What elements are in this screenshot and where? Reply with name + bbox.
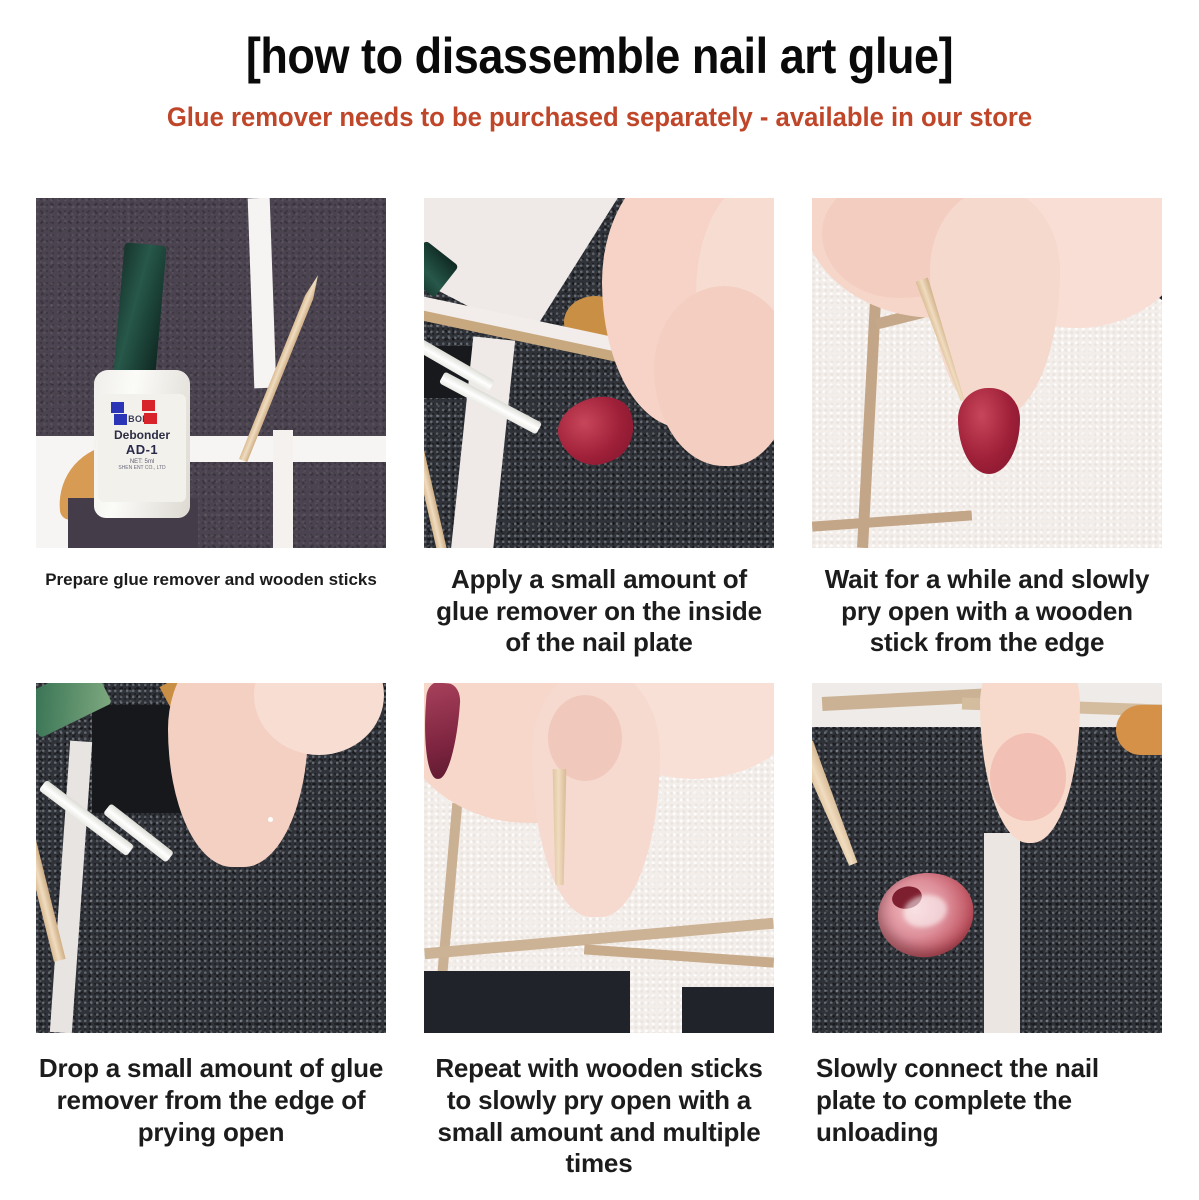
steps-grid: BOND Debonder AD-1 NET: 5ml SHEN ENT CO.… — [36, 198, 1163, 1180]
step-card-2: Apply a small amount of glue remover on … — [424, 198, 774, 659]
bottle-label: BOND Debonder AD-1 NET: 5ml SHEN ENT CO.… — [98, 394, 186, 502]
white-stripe-vertical-2 — [273, 430, 293, 548]
step-image-4 — [36, 683, 386, 1033]
natural-nail — [548, 695, 622, 781]
step-image-2 — [424, 198, 774, 548]
page-header: [how to disassemble nail art glue] Glue … — [0, 0, 1199, 134]
step-card-5: Repeat with wooden sticks to slowly pry … — [424, 683, 774, 1180]
step-caption-1: Prepare glue remover and wooden sticks — [36, 548, 386, 591]
page-subtitle: Glue remover needs to be purchased separ… — [30, 100, 1169, 134]
bottle-company: SHEN ENT CO., LTD — [98, 465, 186, 471]
step-caption-4: Drop a small amount of glue remover from… — [36, 1033, 386, 1148]
steps-row-2: Drop a small amount of glue remover from… — [36, 683, 1163, 1180]
step-card-3: Wait for a while and slowly pry open wit… — [812, 198, 1162, 659]
bottle-product-name: Debonder — [98, 428, 186, 442]
step-card-6: Slowly connect the nail plate to complet… — [812, 683, 1162, 1180]
steps-row-1: BOND Debonder AD-1 NET: 5ml SHEN ENT CO.… — [36, 198, 1163, 659]
step-image-1: BOND Debonder AD-1 NET: 5ml SHEN ENT CO.… — [36, 198, 386, 548]
step-image-5 — [424, 683, 774, 1033]
step-caption-3: Wait for a while and slowly pry open wit… — [812, 548, 1162, 659]
step-caption-6: Slowly connect the nail plate to complet… — [812, 1033, 1162, 1148]
bottle-model: AD-1 — [98, 442, 186, 457]
step-card-1: BOND Debonder AD-1 NET: 5ml SHEN ENT CO.… — [36, 198, 386, 659]
step-caption-5: Repeat with wooden sticks to slowly pry … — [424, 1033, 774, 1180]
dark-block-right — [682, 987, 774, 1033]
page-title: [how to disassemble nail art glue] — [60, 26, 1139, 86]
step-image-6 — [812, 683, 1162, 1033]
dark-block-left — [424, 971, 630, 1033]
white-stripe-vertical — [984, 833, 1020, 1033]
step-caption-2: Apply a small amount of glue remover on … — [424, 548, 774, 659]
step-image-3 — [812, 198, 1162, 548]
orange-shape — [1116, 705, 1162, 755]
bare-fingertip — [990, 733, 1066, 821]
step-card-4: Drop a small amount of glue remover from… — [36, 683, 386, 1180]
